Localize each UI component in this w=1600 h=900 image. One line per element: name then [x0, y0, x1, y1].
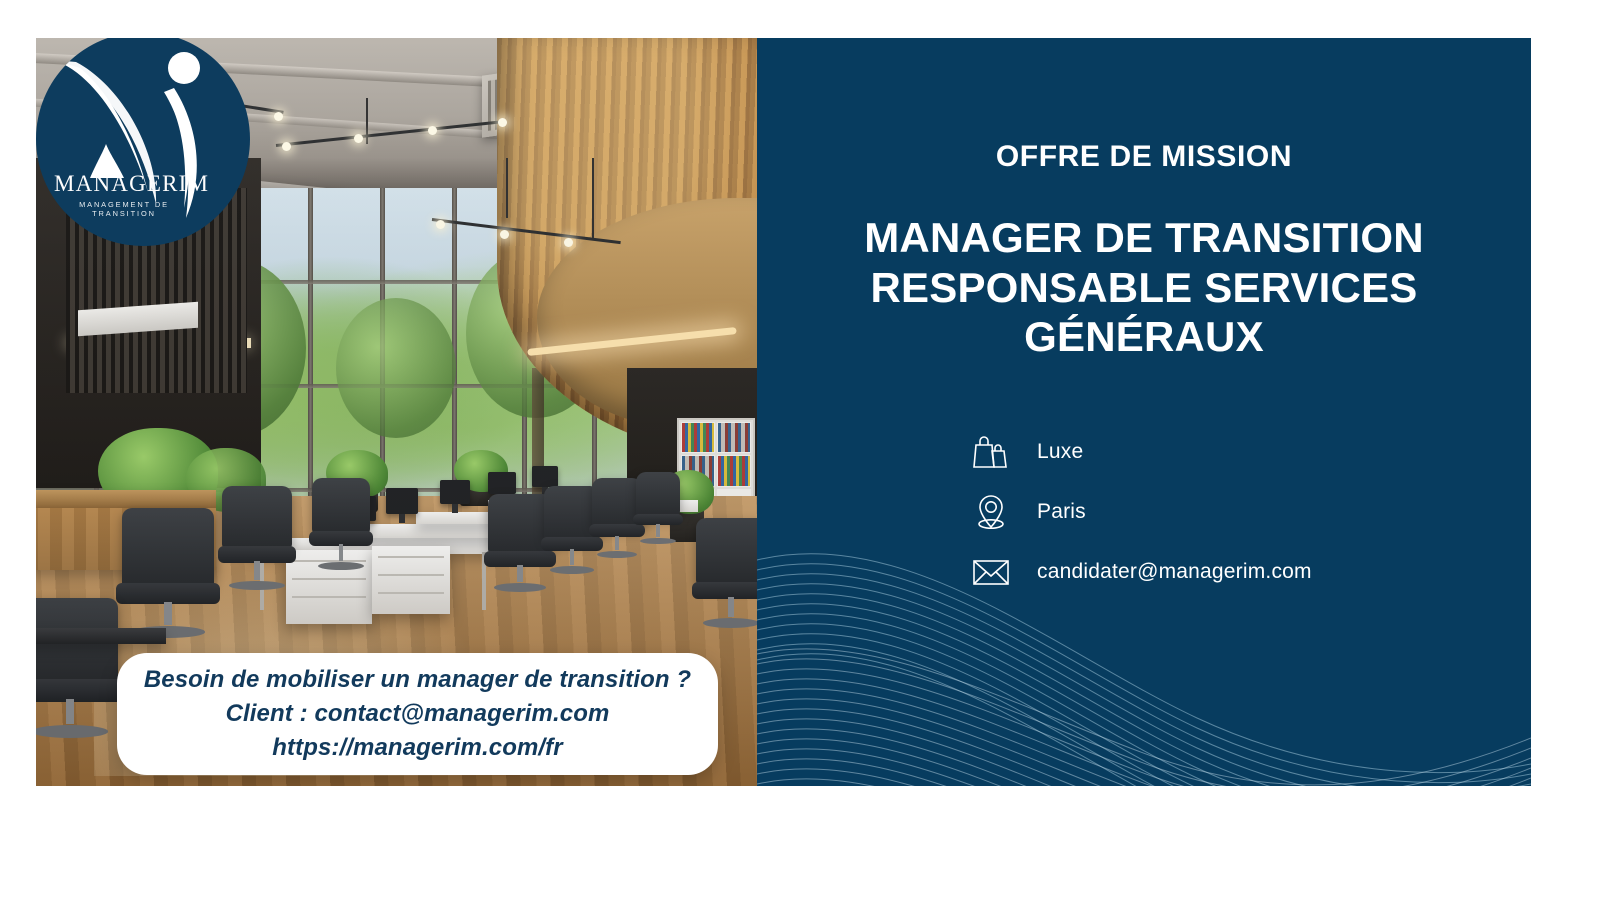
office-chair: [312, 478, 370, 570]
detail-label-location: Paris: [1037, 500, 1086, 524]
office-chair: [636, 472, 680, 544]
office-chair: [222, 486, 292, 590]
detail-row-location: Paris: [969, 490, 1529, 534]
envelope-icon: [969, 550, 1013, 594]
logo-wordmark: MANAGERIM: [54, 172, 194, 195]
offer-title-line-3: GÉNÉRAUX: [1024, 313, 1264, 360]
offer-details: Luxe Paris: [969, 430, 1529, 594]
logo-tagline: MANAGEMENT DE TRANSITION: [54, 200, 194, 218]
offer-title: MANAGER DE TRANSITION RESPONSABLE SERVIC…: [797, 213, 1491, 362]
callout-line-3: https://managerim.com/fr: [272, 732, 562, 764]
office-photo: MANAGERIM MANAGEMENT DE TRANSITION Besoi…: [36, 38, 757, 786]
offer-title-line-2: RESPONSABLE SERVICES: [870, 264, 1417, 311]
offer-title-line-1: MANAGER DE TRANSITION: [864, 214, 1424, 261]
detail-label-sector: Luxe: [1037, 440, 1083, 464]
callout-line-2: Client : contact@managerim.com: [226, 698, 610, 730]
poster-canvas: MANAGERIM MANAGEMENT DE TRANSITION Besoi…: [36, 38, 1531, 786]
detail-label-email: candidater@managerim.com: [1037, 560, 1312, 584]
location-pin-icon: [969, 490, 1013, 534]
detail-row-email: candidater@managerim.com: [969, 550, 1529, 594]
detail-row-sector: Luxe: [969, 430, 1529, 474]
offer-kicker: OFFRE DE MISSION: [757, 140, 1531, 174]
office-chair: [122, 508, 214, 638]
contact-callout-card: Besoin de mobiliser un manager de transi…: [117, 653, 718, 775]
callout-line-1: Besoin de mobiliser un manager de transi…: [144, 664, 691, 696]
office-chair: [36, 598, 118, 738]
office-chair: [696, 518, 757, 628]
offer-panel: OFFRE DE MISSION MANAGER DE TRANSITION R…: [757, 38, 1531, 786]
managerim-logo-badge: MANAGERIM MANAGEMENT DE TRANSITION: [36, 38, 250, 246]
shopping-bags-icon: [969, 430, 1013, 474]
